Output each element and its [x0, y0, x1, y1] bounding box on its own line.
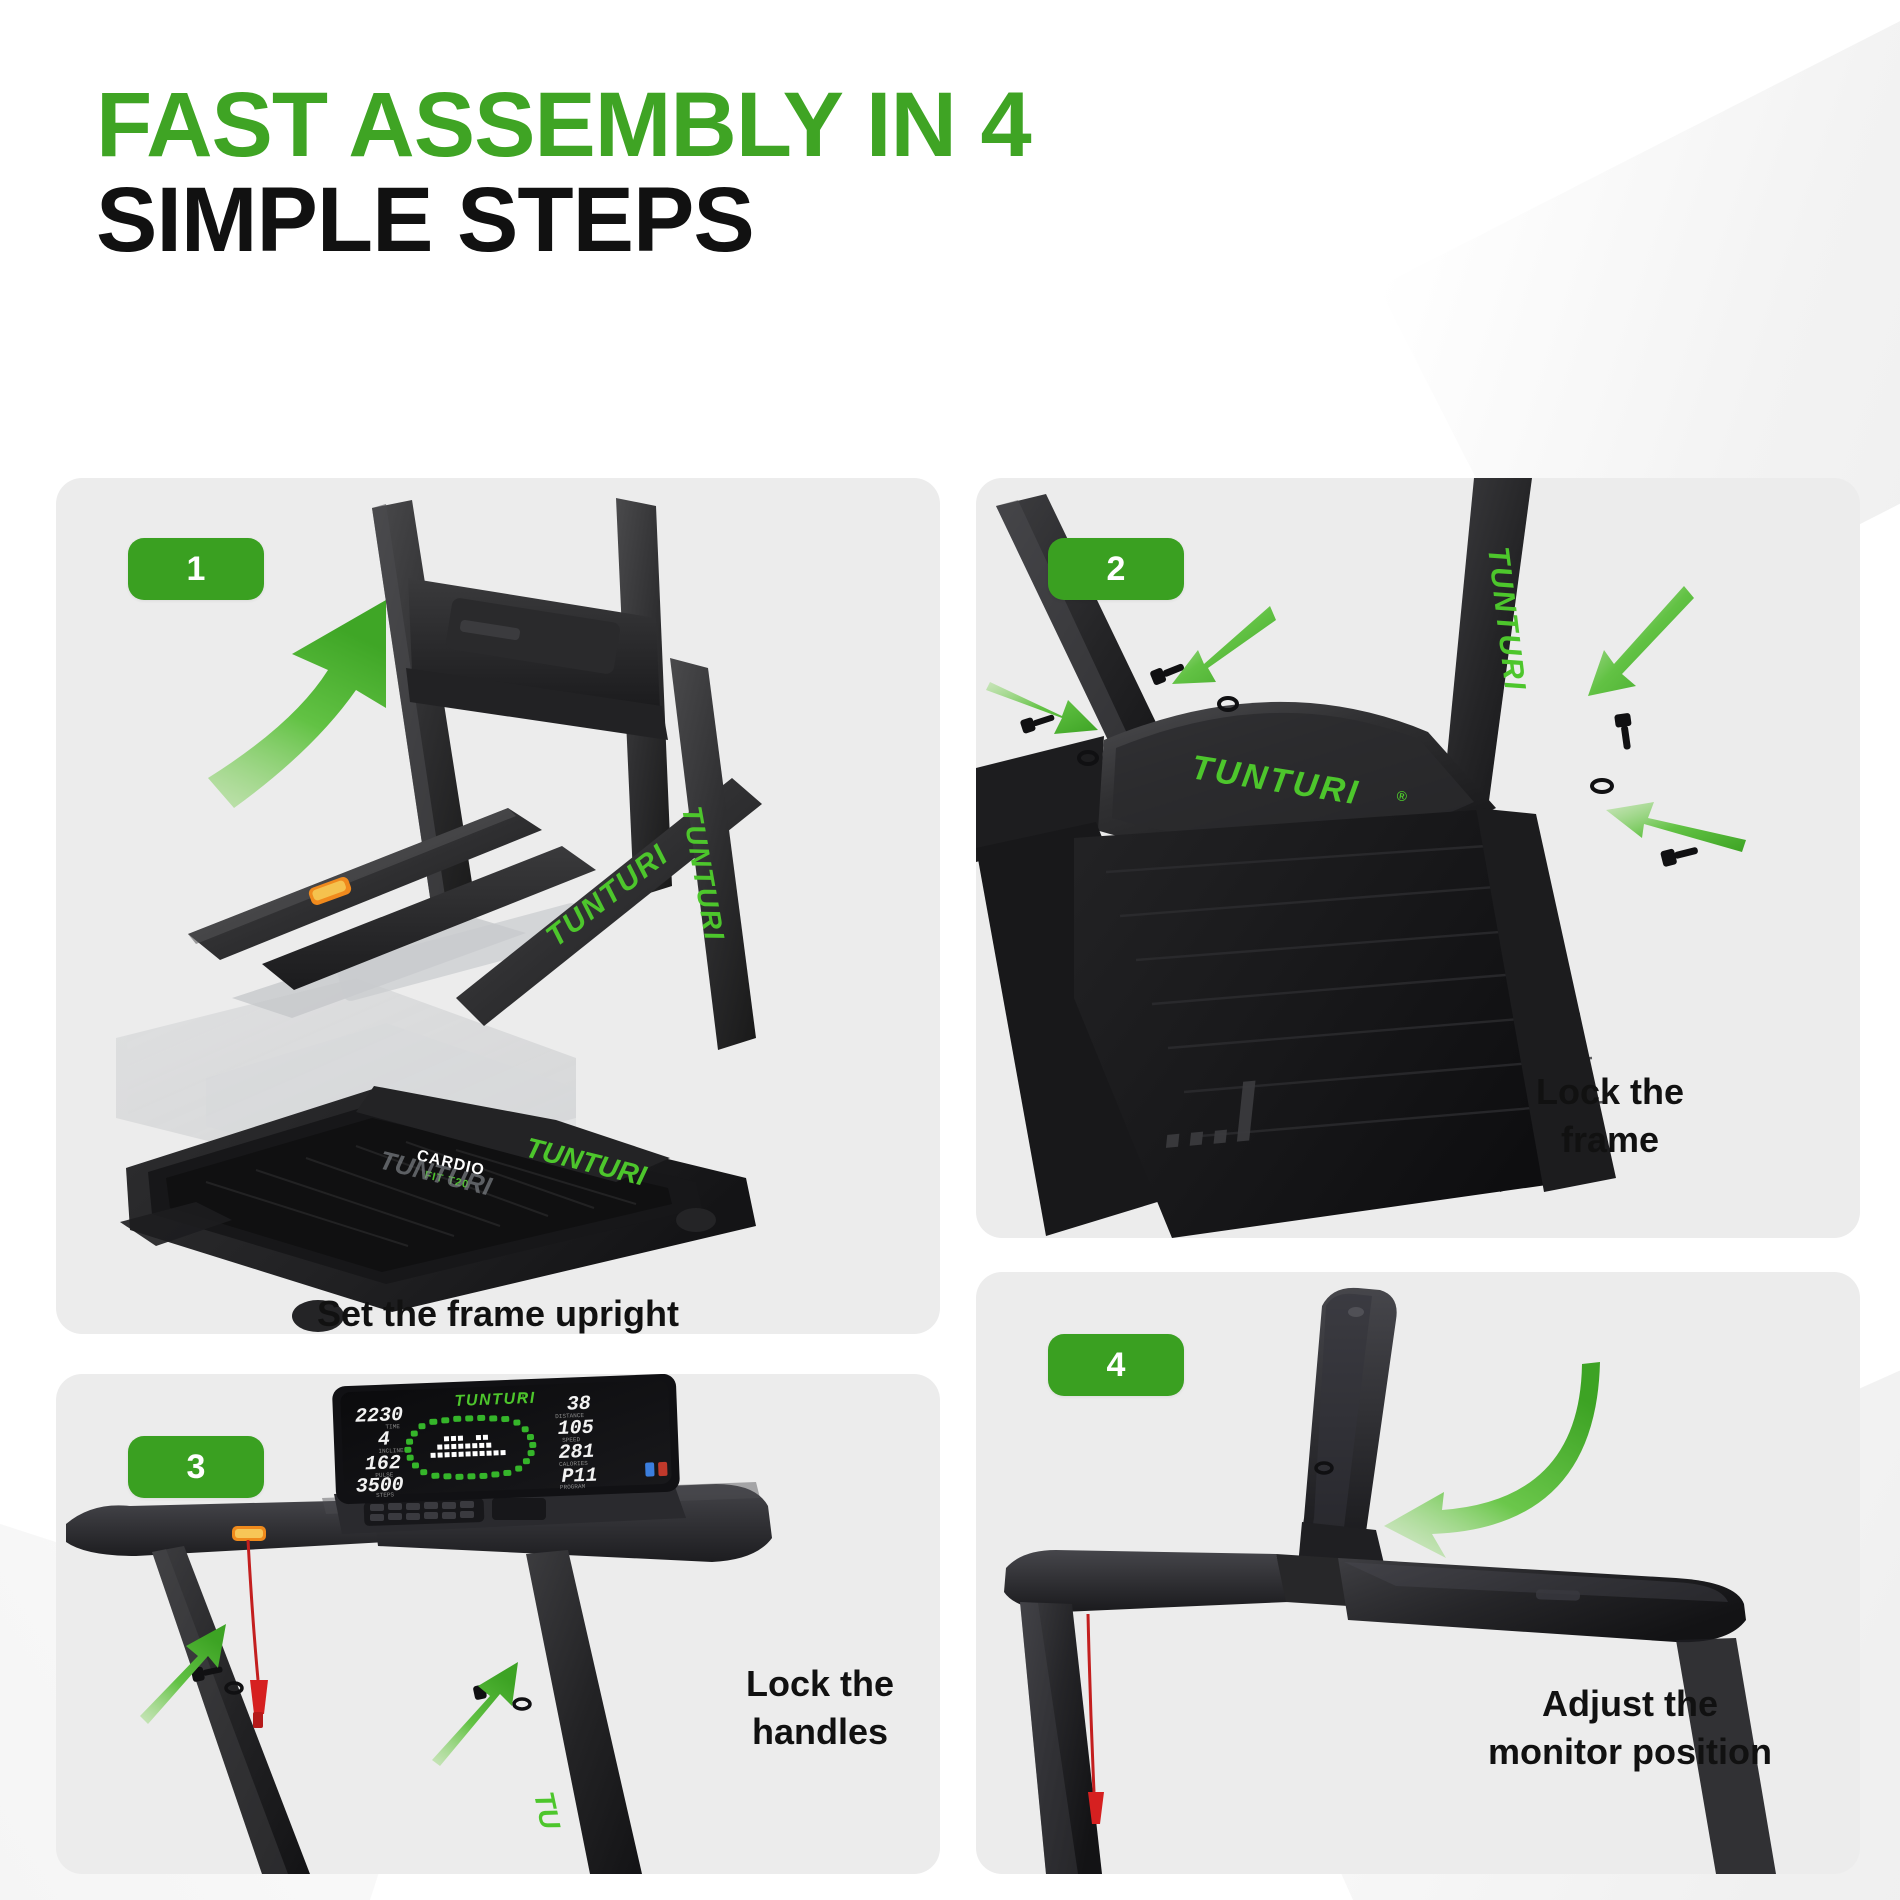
indicator-red — [658, 1462, 668, 1476]
hardware-top — [1149, 606, 1276, 710]
step-1-illustration: TUNTURI TUNTURI — [56, 478, 940, 1334]
caption-line: monitor position — [1430, 1728, 1830, 1776]
infographic-page: FAST ASSEMBLY IN 4 SIMPLE STEPS — [0, 0, 1900, 1900]
indicator-blue — [645, 1462, 655, 1476]
caption-line: handles — [680, 1708, 960, 1756]
hardware-right-upper — [1588, 586, 1694, 792]
step-caption-1: Set the frame upright — [56, 1290, 940, 1338]
monitor-unit — [1298, 1288, 1397, 1572]
caption-line: Adjust the — [1430, 1680, 1830, 1728]
caption-line: Lock the — [680, 1660, 960, 1708]
support-legs: TU — [152, 1546, 642, 1874]
green-arrow-up — [208, 600, 386, 808]
step-caption-2: Lock the frame — [1430, 1068, 1790, 1163]
caption-line: frame — [1430, 1116, 1790, 1164]
step-badge-3: 3 — [128, 1436, 264, 1498]
title-line-1: FAST ASSEMBLY IN 4 — [96, 78, 1396, 173]
green-arrow — [986, 682, 1098, 734]
bolt-icon — [1614, 713, 1635, 751]
step-badge-1: 1 — [128, 538, 264, 600]
green-arrow — [1172, 606, 1276, 684]
green-arrow — [1588, 586, 1694, 696]
step-badge-4: 4 — [1048, 1334, 1184, 1396]
page-title: FAST ASSEMBLY IN 4 SIMPLE STEPS — [96, 78, 1396, 268]
step-badge-2: 2 — [1048, 538, 1184, 600]
step-caption-3: Lock the handles — [680, 1660, 960, 1755]
green-arrow — [1606, 802, 1746, 852]
caption-line: Lock the — [1430, 1068, 1790, 1116]
hardware-right-lower — [1606, 802, 1746, 867]
step-caption-4: Adjust the monitor position — [1430, 1680, 1830, 1775]
hardware-right-3 — [432, 1662, 530, 1766]
bolt-icon — [1020, 710, 1057, 734]
console-arm — [1004, 1550, 1746, 1642]
step-panel-1: TUNTURI TUNTURI — [56, 478, 940, 1334]
safety-cord — [1088, 1614, 1104, 1824]
green-arrow — [432, 1662, 518, 1766]
safety-cord — [248, 1540, 268, 1728]
console-screen: TUNTURI ® — [332, 1374, 680, 1505]
title-line-2: SIMPLE STEPS — [96, 173, 1396, 268]
green-curved-arrow — [1384, 1362, 1600, 1558]
caption-line: Set the frame upright — [56, 1290, 940, 1338]
washer-icon — [1219, 698, 1237, 710]
washer-icon — [514, 1699, 530, 1709]
readout-label-steps: STEPS — [376, 1491, 395, 1499]
brand-mark-belt: ...I — [1157, 1063, 1263, 1167]
washer-icon — [1592, 780, 1612, 792]
bolt-icon — [1660, 843, 1700, 867]
readout-label-program: PROGRAM — [560, 1483, 586, 1491]
brand-mark-leg: TU — [528, 1789, 566, 1833]
